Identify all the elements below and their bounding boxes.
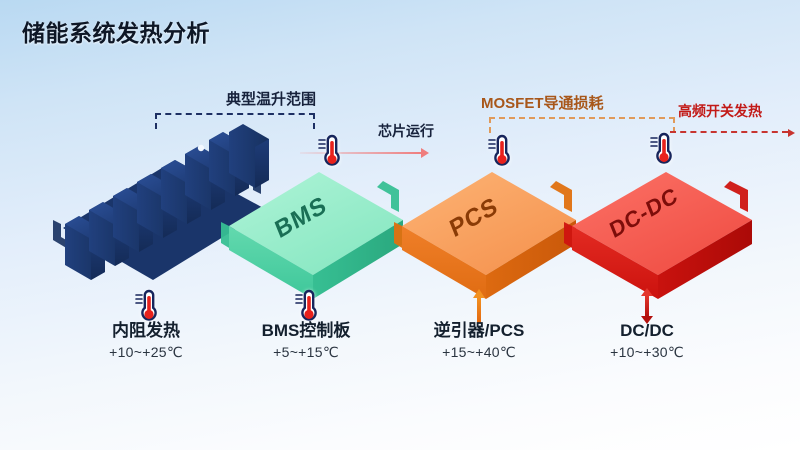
caption-bms-name: BMS控制板 xyxy=(216,320,396,341)
callout-mosfet-loss: MOSFET导通损耗 xyxy=(481,92,604,113)
thermometer-icon-dcdc xyxy=(648,130,674,168)
bracket-typical-rise xyxy=(155,113,315,129)
callout-typical-rise: 典型温升范围 xyxy=(226,88,316,109)
arrow-right-dashed-icon xyxy=(670,131,788,133)
caption-battery-range: +10~+25℃ xyxy=(56,344,236,361)
caption-bms: BMS控制板 +5~+15℃ xyxy=(216,320,396,361)
thermometer-icon-bms xyxy=(316,132,342,170)
caption-pcs-name: 逆引器/PCS xyxy=(389,320,569,341)
caption-dcdc-name: DC/DC xyxy=(557,320,737,341)
thermometer-icon-pcs xyxy=(486,132,512,170)
callout-hf-switching: 高频开关发热 xyxy=(678,101,762,121)
caption-bms-range: +5~+15℃ xyxy=(216,344,396,361)
module-bms[interactable]: BMS xyxy=(215,148,415,288)
arrow-up-icon-pcs xyxy=(477,289,481,323)
infographic-canvas: 储能系统发热分析 典型温升范围 芯片运行 MOSFET导通损耗 高频开关发热 xyxy=(0,0,800,450)
caption-battery-name: 内阻发热 xyxy=(56,320,236,341)
caption-dcdc: DC/DC +10~+30℃ xyxy=(557,320,737,361)
module-dcdc[interactable]: DC-DC xyxy=(558,148,768,288)
caption-pcs: 逆引器/PCS +15~+40℃ xyxy=(389,320,569,361)
dcdc-3d-shape xyxy=(558,148,768,288)
caption-battery: 内阻发热 +10~+25℃ xyxy=(56,320,236,361)
caption-dcdc-range: +10~+30℃ xyxy=(557,344,737,361)
callout-chip-running: 芯片运行 xyxy=(378,121,434,141)
caption-pcs-range: +15~+40℃ xyxy=(389,344,569,361)
arrow-up-down-icon-dcdc xyxy=(645,288,649,324)
page-title: 储能系统发热分析 xyxy=(22,14,210,48)
